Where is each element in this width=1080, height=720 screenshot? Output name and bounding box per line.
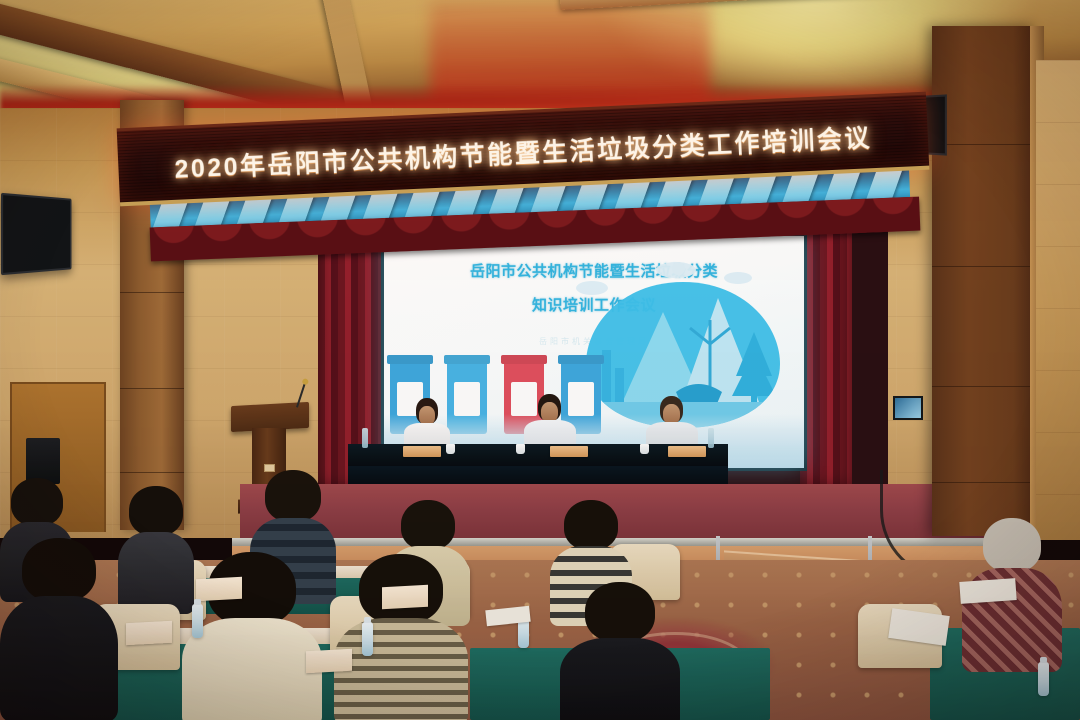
- water-bottle: [708, 428, 714, 448]
- water-bottle: [362, 428, 368, 448]
- teacup: [640, 444, 649, 454]
- teacup: [516, 444, 525, 454]
- audience-member: [0, 538, 118, 720]
- stage-curtain-right: [800, 216, 852, 488]
- water-bottle: [1038, 662, 1049, 696]
- name-card: [126, 621, 172, 645]
- column-right: [932, 26, 1036, 536]
- wall-monitor-icon: [1, 193, 72, 275]
- document-sheet: [959, 578, 1016, 604]
- right-wall-panels: [1036, 60, 1080, 540]
- teacup: [446, 444, 455, 454]
- audience-member: [182, 552, 322, 720]
- banner-title: 2020年岳阳市公共机构节能暨生活垃圾分类工作培训会议: [174, 118, 873, 186]
- water-bottle: [362, 622, 373, 656]
- name-card: [382, 585, 428, 609]
- control-monitor-icon: [893, 396, 923, 420]
- audience-member: [560, 582, 680, 720]
- water-bottle: [192, 604, 203, 638]
- name-card: [196, 577, 242, 601]
- audience-member: [334, 554, 468, 720]
- nameplate: [668, 446, 706, 457]
- conference-hall-photo: 岳阳市公共机构节能暨生活垃圾分类 知识培训工作会议 岳阳市机关事务管理局: [0, 0, 1080, 720]
- nameplate: [550, 446, 588, 457]
- name-card: [306, 649, 352, 673]
- nameplate: [403, 446, 441, 457]
